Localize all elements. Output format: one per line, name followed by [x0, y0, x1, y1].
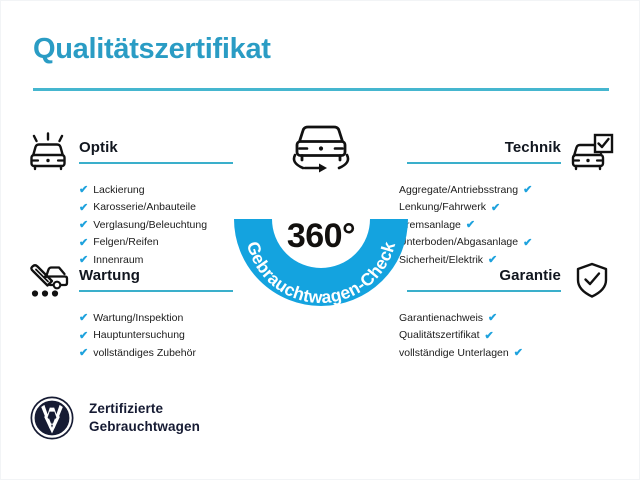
section-title-garantie: Garantie [407, 268, 561, 290]
check-icon: ✔ [79, 331, 88, 342]
check-icon: ✔ [79, 203, 88, 214]
check-icon: ✔ [491, 203, 500, 214]
section-underline-optik [79, 162, 233, 164]
list-item: ✔Unterboden/Abgasanlage [399, 236, 615, 249]
list-item-label: Wartung/Inspektion [93, 312, 183, 325]
check-icon: ✔ [488, 313, 497, 324]
list-item: ✔Felgen/Reifen [25, 236, 241, 249]
car-wrench-icon [25, 259, 71, 301]
quality-certificate-page: Qualitätszertifikat [0, 0, 640, 480]
list-item-label: Karosserie/Anbauteile [93, 201, 196, 214]
list-item: ✔Lenkung/Fahrwerk [399, 201, 615, 214]
shield-check-icon [569, 259, 615, 301]
check-icon: ✔ [79, 238, 88, 249]
list-item: ✔Verglasung/Beleuchtung [25, 219, 241, 232]
car-shine-icon [25, 131, 71, 173]
list-item-label: Felgen/Reifen [93, 236, 158, 249]
section-title-technik: Technik [407, 140, 561, 162]
list-item: ✔vollständiges Zubehör [25, 347, 241, 360]
checklist-technik: ✔Aggregate/Antriebsstrang ✔Lenkung/Fahrw… [399, 184, 615, 267]
check-icon: ✔ [523, 238, 532, 249]
section-garantie: Garantie ✔Garantienachweis ✔Qualitätszer… [399, 257, 615, 364]
list-item-label: Lackierung [93, 184, 144, 197]
360-check-badge: Gebrauchtwagen-Check 360° [223, 113, 419, 313]
check-icon: ✔ [79, 220, 88, 231]
section-technik: Technik ✔Aggregate/Antriebsstrang ✔Lenku… [399, 129, 615, 271]
list-item: ✔Hauptuntersuchung [25, 329, 241, 342]
check-icon: ✔ [79, 348, 88, 359]
list-item: ✔Bremsanlage [399, 219, 615, 232]
list-item-label: vollständige Unterlagen [399, 347, 509, 360]
list-item-label: Hauptuntersuchung [93, 329, 185, 342]
section-underline-garantie [407, 290, 561, 292]
list-item-label: Garantienachweis [399, 312, 483, 325]
check-icon: ✔ [523, 185, 532, 196]
checklist-garantie: ✔Garantienachweis ✔Qualitätszertifikat ✔… [399, 312, 615, 360]
volkswagen-lockup: Zertifizierte Gebrauchtwagen [29, 395, 200, 441]
list-item-label: Verglasung/Beleuchtung [93, 219, 207, 232]
check-icon: ✔ [466, 220, 475, 231]
section-optik: Optik ✔Lackierung ✔Karosserie/Anbauteile… [25, 129, 241, 271]
section-title-wartung: Wartung [79, 268, 233, 290]
list-item-label: Qualitätszertifikat [399, 329, 480, 342]
section-underline-wartung [79, 290, 233, 292]
list-item: ✔Aggregate/Antriebsstrang [399, 184, 615, 197]
lockup-line-1: Zertifizierte [89, 400, 200, 418]
badge-center-label: 360° [223, 217, 419, 256]
check-icon: ✔ [514, 348, 523, 359]
list-item: ✔Karosserie/Anbauteile [25, 201, 241, 214]
volkswagen-logo [29, 395, 75, 441]
section-underline-technik [407, 162, 561, 164]
checklist-optik: ✔Lackierung ✔Karosserie/Anbauteile ✔Verg… [25, 184, 241, 267]
check-icon: ✔ [79, 313, 88, 324]
volkswagen-lockup-text: Zertifizierte Gebrauchtwagen [89, 400, 200, 436]
check-icon: ✔ [485, 331, 494, 342]
page-title: Qualitätszertifikat [33, 33, 271, 66]
list-item-label: vollständiges Zubehör [93, 347, 196, 360]
lockup-line-2: Gebrauchtwagen [89, 418, 200, 436]
list-item: ✔Wartung/Inspektion [25, 312, 241, 325]
title-divider [33, 88, 609, 91]
list-item: ✔vollständige Unterlagen [399, 347, 615, 360]
section-wartung: Wartung ✔Wartung/Inspektion ✔Hauptunters… [25, 257, 241, 364]
list-item: ✔Lackierung [25, 184, 241, 197]
section-title-optik: Optik [79, 140, 233, 162]
list-item: ✔Garantienachweis [399, 312, 615, 325]
checklist-wartung: ✔Wartung/Inspektion ✔Hauptuntersuchung ✔… [25, 312, 241, 360]
car-checkbox-icon [569, 131, 615, 173]
check-icon: ✔ [79, 185, 88, 196]
list-item: ✔Qualitätszertifikat [399, 329, 615, 342]
